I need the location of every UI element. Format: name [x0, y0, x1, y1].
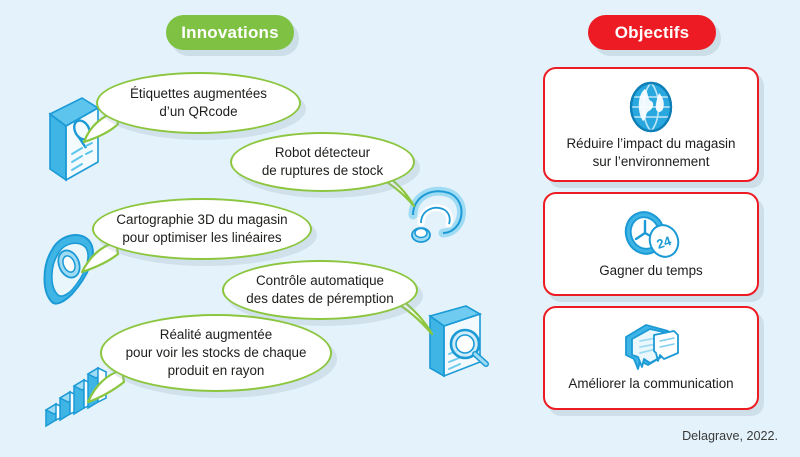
objectif-card-0-icon-wrap — [623, 79, 679, 135]
innovation-bubble-0: Étiquettes augmentées d’un QRcode — [96, 72, 301, 134]
objectif-card-0-label: Réduire l’impact du magasin sur l’enviro… — [559, 135, 744, 170]
chat-bubbles-icon — [620, 323, 682, 375]
objectifs-header-label: Objectifs — [615, 23, 690, 43]
objectif-card-2: Améliorer la communication — [543, 306, 759, 410]
wifi-signal-icon — [405, 185, 471, 247]
innovation-bubble-1-text: Robot détecteur de ruptures de stock — [262, 144, 383, 179]
innovation-bubble-2: Cartographie 3D du magasin pour optimise… — [92, 198, 312, 260]
innovation-bubble-1: Robot détecteur de ruptures de stock — [230, 132, 415, 192]
globe-icon — [623, 79, 679, 135]
innovations-header-label: Innovations — [181, 23, 279, 43]
infographic-canvas: Innovations Objectifs — [0, 0, 800, 457]
innovation-bubble-4-text: Réalité augmentée pour voir les stocks d… — [126, 326, 307, 379]
clock-24-icon: 24 — [620, 208, 682, 262]
innovations-header-badge: Innovations — [166, 15, 294, 50]
objectif-card-2-icon-wrap — [620, 323, 682, 375]
innovation-bubble-0-text: Étiquettes augmentées d’un QRcode — [130, 85, 267, 120]
innovation-bubble-3-text: Contrôle automatique des dates de péremp… — [246, 272, 393, 307]
innovation-bubble-4: Réalité augmentée pour voir les stocks d… — [100, 314, 332, 392]
objectif-card-2-label: Améliorer la communication — [560, 375, 741, 392]
source-credit: Delagrave, 2022. — [682, 429, 778, 443]
objectif-card-1: 24 Gagner du temps — [543, 192, 759, 296]
objectif-card-0: Réduire l’impact du magasin sur l’enviro… — [543, 67, 759, 182]
innovation-bubble-2-text: Cartographie 3D du magasin pour optimise… — [116, 211, 287, 246]
document-magnifier-icon — [418, 302, 496, 382]
objectif-card-1-label: Gagner du temps — [591, 262, 710, 279]
smartphone-tag-icon — [42, 96, 104, 182]
innovation-bubble-3: Contrôle automatique des dates de péremp… — [222, 260, 418, 320]
objectifs-header-badge: Objectifs — [588, 15, 716, 50]
objectif-card-1-icon-wrap: 24 — [620, 208, 682, 262]
